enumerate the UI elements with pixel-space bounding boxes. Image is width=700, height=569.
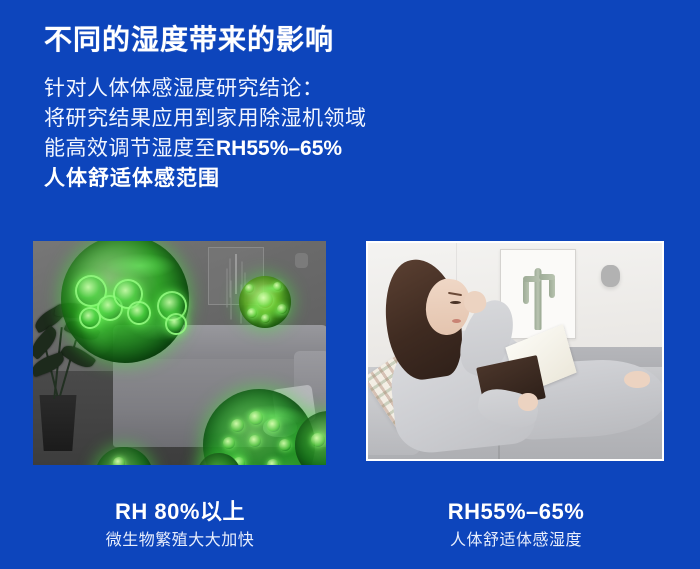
microbe-cell (79, 307, 101, 329)
humidity-range-highlight: RH55%–65% (216, 137, 342, 160)
photo-comfort-room-woman (366, 241, 664, 461)
light-room-scene (368, 243, 662, 459)
microbe-cell (165, 313, 187, 335)
woman-eye (450, 301, 461, 304)
microbe-cell (223, 437, 235, 449)
body-line-1: 针对人体体感湿度研究结论： (44, 74, 464, 104)
microbe-cell (249, 435, 261, 447)
woman-foot (624, 371, 650, 388)
microbe-cell (273, 282, 282, 291)
body-line-2: 将研究结果应用到家用除湿机领域 (44, 104, 464, 134)
woman-lips (452, 319, 461, 323)
page-title: 不同的湿度带来的影响 (44, 18, 334, 58)
dark-room-scene (33, 241, 326, 465)
cactus-arm (539, 274, 555, 280)
microbe-cell (231, 419, 244, 432)
body-line-3-prefix: 能高效调节湿度至 (44, 137, 216, 160)
caption-left-subtitle: 微生物繁殖大大加快 (30, 528, 330, 554)
microbe-cell (245, 284, 254, 293)
microbe-cell (267, 459, 279, 465)
body-line-4: 人体舒适体感范围 (44, 164, 464, 194)
woman-hand-holding-book (518, 393, 538, 411)
microbe-sphere-large (61, 241, 189, 363)
plant-pot-dark (37, 395, 79, 451)
microbe-cell (277, 304, 287, 314)
microbe-cell (267, 419, 280, 432)
caption-right-title: RH55%–65% (366, 498, 666, 526)
microbe-cell (261, 314, 270, 323)
caption-right: RH55%–65% 人体舒适体感湿度 (366, 498, 666, 554)
microbe-cell (113, 457, 125, 465)
caption-right-subtitle: 人体舒适体感湿度 (366, 528, 666, 554)
caption-left: RH 80%以上 微生物繁殖大大加快 (30, 498, 330, 554)
microbe-cell (247, 308, 257, 318)
wall-speaker-light (601, 265, 620, 287)
microbe-cell (257, 292, 273, 308)
microbe-cell (249, 411, 263, 425)
microbe-cell (127, 301, 151, 325)
caption-left-title: RH 80%以上 (30, 498, 330, 526)
microbe-cell (311, 433, 325, 447)
wall-speaker-dark (295, 253, 308, 268)
microbe-sphere-medium (239, 276, 291, 328)
body-paragraph: 针对人体体感湿度研究结论： 将研究结果应用到家用除湿机领域 能高效调节湿度至RH… (44, 74, 464, 194)
microbe-cell (279, 439, 291, 451)
poster-root: 不同的湿度带来的影响 针对人体体感湿度研究结论： 将研究结果应用到家用除湿机领域… (0, 0, 700, 569)
body-line-3: 能高效调节湿度至RH55%–65% (44, 134, 464, 164)
photo-dark-room-microbes (33, 241, 326, 465)
